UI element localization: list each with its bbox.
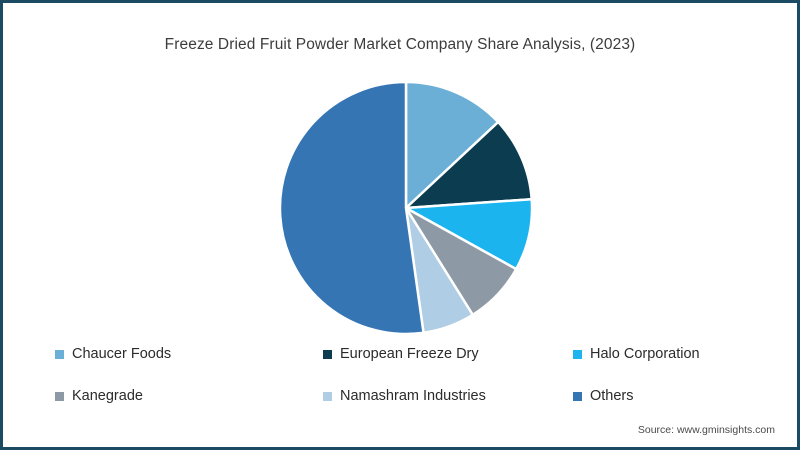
legend-item-label: Others (590, 389, 634, 404)
legend-item-label: Chaucer Foods (72, 347, 171, 362)
legend-item-label: Namashram Industries (340, 389, 486, 404)
pie-chart-svg (279, 81, 533, 335)
legend-item[interactable]: European Freeze Dry (323, 347, 573, 362)
legend-swatch-icon (55, 350, 64, 359)
chart-frame: Freeze Dried Fruit Powder Market Company… (0, 0, 800, 450)
legend-item-label: Halo Corporation (590, 347, 700, 362)
legend-item[interactable]: Halo Corporation (573, 347, 755, 362)
chart-legend: Chaucer FoodsEuropean Freeze DryHalo Cor… (55, 347, 755, 431)
chart-canvas: Freeze Dried Fruit Powder Market Company… (3, 3, 797, 447)
legend-swatch-icon (573, 350, 582, 359)
legend-item[interactable]: Chaucer Foods (55, 347, 323, 362)
pie-slice-group (280, 82, 532, 334)
pie-chart (279, 81, 533, 335)
pie-slice[interactable] (280, 82, 424, 334)
legend-swatch-icon (573, 392, 582, 401)
legend-item[interactable]: Namashram Industries (323, 389, 573, 404)
page-title: Freeze Dried Fruit Powder Market Company… (3, 36, 797, 54)
legend-swatch-icon (323, 350, 332, 359)
legend-item[interactable]: Others (573, 389, 755, 404)
legend-item[interactable]: Kanegrade (55, 389, 323, 404)
legend-swatch-icon (323, 392, 332, 401)
legend-item-label: European Freeze Dry (340, 347, 479, 362)
legend-swatch-icon (55, 392, 64, 401)
legend-item-label: Kanegrade (72, 389, 143, 404)
legend-row: Chaucer FoodsEuropean Freeze DryHalo Cor… (55, 347, 755, 389)
source-attribution: Source: www.gminsights.com (638, 424, 775, 436)
